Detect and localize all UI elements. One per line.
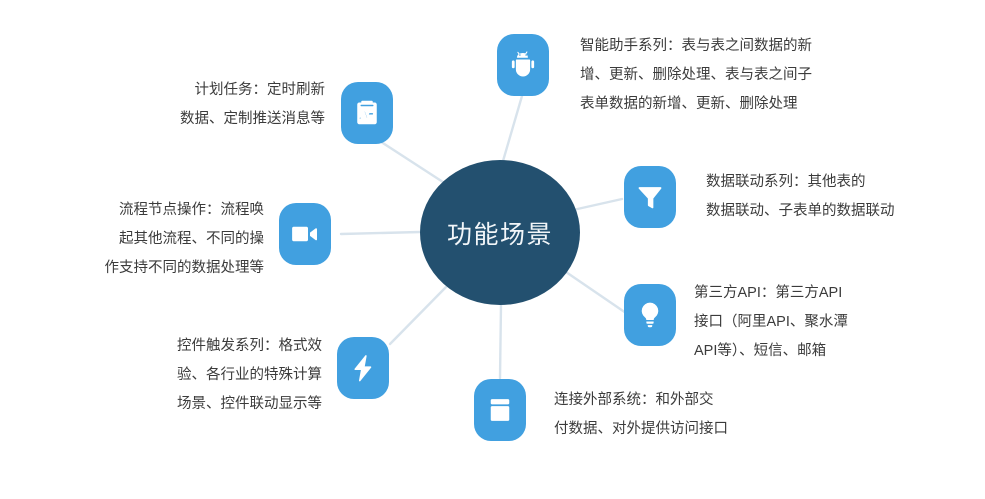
center-node-label: 功能场景 [447, 215, 553, 251]
edge-to-data-linkage [573, 199, 622, 210]
android-robot-icon [508, 50, 538, 80]
database-icon [485, 395, 515, 425]
lightning-bolt-icon [348, 353, 378, 383]
node-text-scheduled-task: 计划任务：定时刷新 数据、定制推送消息等 [120, 76, 325, 134]
edge-to-control-trigger [390, 285, 448, 344]
node-icon-smart-assistant[interactable] [497, 34, 549, 96]
edge-to-external-system [500, 305, 501, 378]
node-icon-control-trigger[interactable] [337, 337, 389, 399]
edge-to-process-node [341, 232, 420, 234]
clipboard-chart-icon [352, 98, 382, 128]
node-text-smart-assistant: 智能助手系列：表与表之间数据的新 增、更新、删除处理、表与表之间子 表单数据的新… [580, 32, 910, 119]
lightbulb-icon [635, 300, 665, 330]
node-text-external-system: 连接外部系统：和外部交 付数据、对外提供访问接口 [554, 386, 814, 444]
node-icon-external-system[interactable] [474, 379, 526, 441]
node-text-control-trigger: 控件触发系列：格式效 验、各行业的特殊计算 场景、控件联动显示等 [110, 332, 322, 419]
video-camera-icon [290, 219, 320, 249]
center-node[interactable]: 功能场景 [420, 160, 580, 305]
node-icon-scheduled-task[interactable] [341, 82, 393, 144]
edge-to-third-party-api [566, 272, 626, 313]
node-text-data-linkage: 数据联动系列：其他表的 数据联动、子表单的数据联动 [706, 168, 976, 226]
funnel-filter-icon [635, 182, 665, 212]
node-icon-data-linkage[interactable] [624, 166, 676, 228]
node-icon-third-party-api[interactable] [624, 284, 676, 346]
node-text-third-party-api: 第三方API：第三方API 接口（阿里API、聚水潭 API等）、短信、邮箱 [694, 279, 944, 366]
node-icon-process-node[interactable] [279, 203, 331, 265]
edge-to-smart-assistant [503, 96, 522, 161]
edge-to-scheduled-task [372, 136, 446, 184]
node-text-process-node: 流程节点操作：流程唤 起其他流程、不同的操 作支持不同的数据处理等 [58, 196, 264, 283]
diagram-canvas: 功能场景 计划任务：定时刷新 数据、定制推送消息等 智能助手系列：表与表之间数据… [0, 0, 985, 499]
